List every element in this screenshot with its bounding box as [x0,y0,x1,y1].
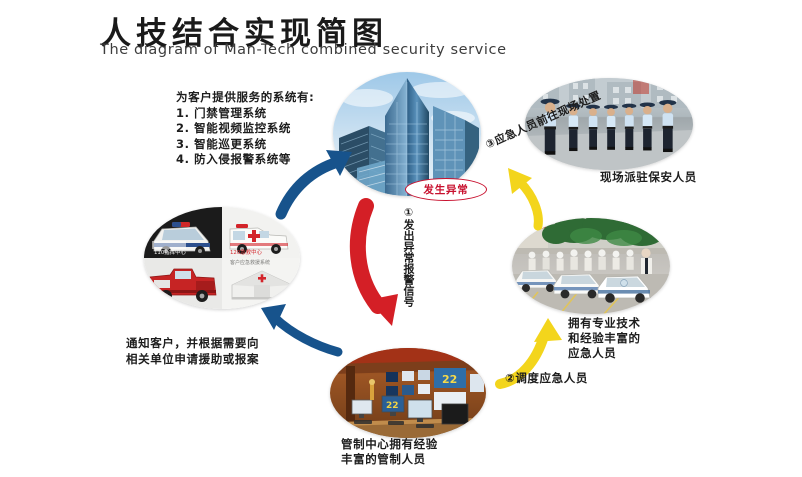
photo-control-center: 22 22 [330,348,486,438]
svg-text:120急救中心: 120急救中心 [230,248,262,256]
guards-caption: 现场派驻保安人员 [600,170,697,186]
photo-customer-building [333,72,481,196]
svg-text:110指挥中心: 110指挥中心 [154,248,186,256]
anomaly-badge: 发生异常 [405,178,487,201]
step-1-label: ①发出异常报警信号 [399,206,415,307]
svg-text:客户应急救援系统: 客户应急救援系统 [230,259,270,266]
page-subtitle-english: The diagram of Man-Tech combined securit… [100,42,507,58]
svg-text:22: 22 [386,401,399,411]
arrow-yellow-up [508,168,538,226]
photo-emergency-services: 110指挥中心 120急救中心 [144,207,300,309]
photo-patrol-vehicles [512,218,670,314]
arrow-blue-up-left [261,304,338,352]
anomaly-badge-label: 发生异常 [423,182,468,197]
emergency-units-caption: 通知客户，并根据需要向 相关单位申请援助或报案 [126,335,259,367]
control-center-caption: 管制中心拥有经验 丰富的管制人员 [341,437,438,466]
service-system-list: 为客户提供服务的系统有: 1. 门禁管理系统 2. 智能视频监控系统 3. 智能… [176,90,314,168]
diagram-canvas: 人技结合实现简图 The diagram of Man-Tech combine… [0,0,802,477]
arrow-red-down [358,206,398,326]
step-2-label: ②调度应急人员 [505,371,588,387]
svg-text:22: 22 [442,373,457,386]
responders-caption: 拥有专业技术 和经验丰富的 应急人员 [568,316,641,361]
